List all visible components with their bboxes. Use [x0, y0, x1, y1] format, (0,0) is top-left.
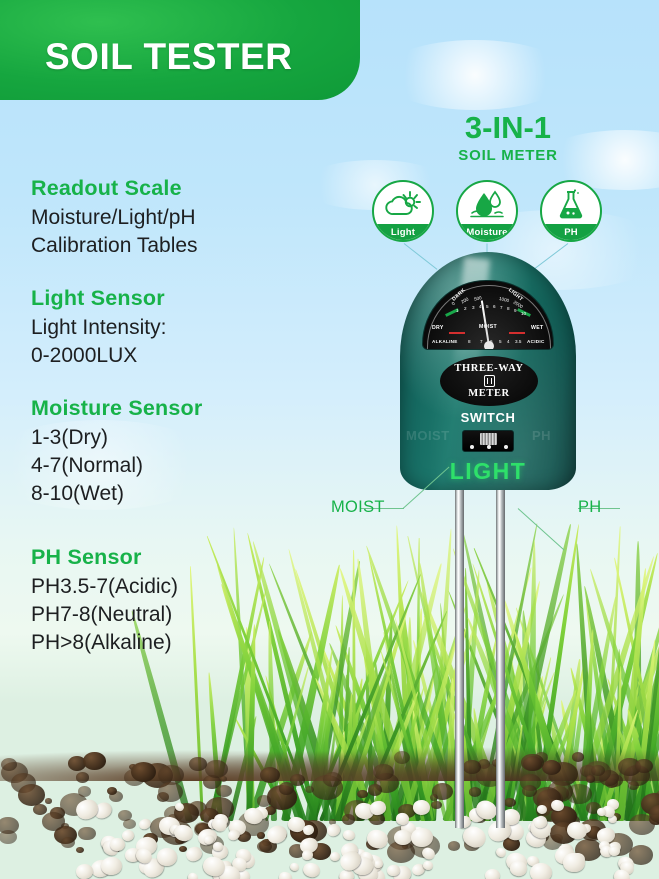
fertilizer-pellet — [325, 822, 343, 839]
switch-position-dot — [487, 445, 491, 449]
dial-needle-hub — [484, 341, 494, 350]
fertilizer-pellet — [302, 861, 322, 879]
soil-clod — [628, 781, 639, 790]
feature-label: Light — [374, 224, 432, 240]
sun-cloud-icon — [374, 185, 432, 225]
spec-block-ph-sensor: PH Sensor PH3.5-7(Acidic) PH7-8(Neutral)… — [31, 545, 331, 657]
feature-icon-row: Light Moisture — [372, 180, 602, 242]
soil-clod — [586, 775, 595, 782]
dial-label-acidic: ACIDIC — [527, 339, 545, 344]
soil-clod — [431, 801, 442, 810]
dial-label-alkaline: ALKALINE — [432, 339, 458, 344]
spec-block-readout-scale: Readout Scale Moisture/Light/pH Calibrat… — [31, 176, 331, 260]
feature-circle: Light — [372, 180, 434, 242]
cloud-decoration — [380, 40, 570, 110]
soil-clod — [463, 760, 480, 774]
soil-clod — [220, 776, 228, 782]
dial-number: 5 — [499, 339, 502, 344]
soil-clod — [257, 832, 265, 839]
dial-number: 8 — [468, 339, 471, 344]
dial-number: 7 — [500, 305, 503, 310]
feature-label: Moisture — [458, 224, 516, 240]
fertilizer-pellet — [343, 829, 356, 841]
spec-line: Light Intensity: — [31, 314, 331, 342]
dial-number: 3 — [472, 305, 475, 310]
spec-line: 1-3(Dry) — [31, 424, 331, 452]
probe-moisture — [455, 488, 464, 828]
soil-clod — [448, 841, 460, 851]
product-title: 3-IN-1 — [398, 112, 618, 143]
dial-number: 9 — [514, 308, 517, 313]
mode-switch[interactable] — [462, 430, 514, 452]
spec-line: PH3.5-7(Acidic) — [31, 573, 331, 601]
soil-clod — [305, 786, 314, 793]
product-subtitle: SOIL METER — [398, 147, 618, 164]
product-title-group: 3-IN-1 SOIL METER — [398, 112, 618, 164]
feature-circle: PH — [540, 180, 602, 242]
selected-mode-label: LIGHT — [400, 458, 576, 485]
spec-line: PH>8(Alkaline) — [31, 629, 331, 657]
dial-number: 2 — [464, 306, 467, 311]
soil-clod — [572, 752, 584, 761]
soil-clod — [368, 784, 383, 796]
feature-light: Light — [372, 180, 434, 242]
fertilizer-pellet — [485, 869, 501, 879]
fertilizer-pellet — [289, 862, 300, 873]
dial-number: 7 — [480, 339, 483, 344]
badge-line-1: THREE-WAY — [454, 363, 523, 374]
molded-label-moist: MOIST — [406, 428, 450, 443]
dial-band-red — [509, 332, 525, 334]
fertilizer-pellet — [109, 837, 125, 851]
soil-clod — [260, 767, 280, 783]
soil-clod — [357, 790, 367, 798]
dial-number: 1 — [456, 308, 459, 313]
soil-clod — [78, 827, 95, 841]
feature-moisture: Moisture — [456, 180, 518, 242]
fertilizer-pellet — [212, 841, 223, 851]
soil-clod — [216, 785, 231, 797]
soil-clod — [257, 795, 271, 806]
spec-heading: Light Sensor — [31, 286, 331, 311]
spec-line: Calibration Tables — [31, 232, 331, 260]
brand-badge: THREE-WAY METER — [440, 356, 538, 406]
spec-block-moisture-sensor: Moisture Sensor 1-3(Dry) 4-7(Normal) 8-1… — [31, 396, 331, 508]
soil-clod — [469, 787, 481, 796]
soil-clod — [158, 782, 183, 802]
feature-label: PH — [542, 224, 600, 240]
soil-clod — [504, 798, 516, 807]
soil-clod — [76, 847, 83, 853]
fertilizer-pellet — [156, 848, 177, 866]
flask-icon — [542, 185, 600, 225]
soil-clod — [61, 837, 75, 848]
soil-clod — [635, 759, 653, 773]
soil-clod — [522, 785, 537, 797]
header-banner: SOIL TESTER — [0, 0, 360, 100]
soil-clod — [0, 817, 19, 834]
soil-clod — [118, 810, 132, 821]
spec-heading: Moisture Sensor — [31, 396, 331, 421]
soil-clod — [78, 786, 91, 797]
probe-ph — [496, 488, 505, 828]
dial-number: 8 — [507, 306, 510, 311]
dial-label-dry: DRY — [432, 325, 444, 331]
dial-number: 5 — [486, 304, 489, 309]
switch-caption: SWITCH — [400, 410, 576, 425]
molded-label-ph: PH — [532, 428, 551, 443]
soil-meter-device: MOIST PH DARK LIGHT 0 200 500 1000 2000 … — [400, 252, 576, 492]
fertilizer-pellet — [329, 852, 340, 862]
dial-band-red — [449, 332, 465, 334]
soil-clod — [373, 764, 394, 781]
dial-label-wet: WET — [531, 325, 543, 331]
fertilizer-pellet — [563, 853, 585, 872]
callout-ph: PH — [578, 498, 602, 517]
dial-number: 6 — [493, 304, 496, 309]
callout-moist: MOIST — [331, 498, 385, 517]
fertilizer-pellet — [101, 856, 123, 876]
spec-line: Moisture/Light/pH — [31, 204, 331, 232]
switch-position-dot — [470, 445, 474, 449]
fertilizer-pellet — [278, 871, 293, 879]
badge-line-2: METER — [468, 388, 510, 399]
dial-number: 3.5 — [515, 339, 521, 344]
soil-clod — [76, 772, 89, 782]
soil-clod — [323, 772, 342, 787]
switch-knob[interactable] — [480, 433, 497, 445]
soil-clod — [83, 752, 106, 770]
page-title: SOIL TESTER — [0, 36, 292, 100]
soil-clod — [189, 757, 206, 771]
spec-heading: Readout Scale — [31, 176, 331, 201]
fertilizer-pellet — [187, 871, 200, 879]
spec-block-light-sensor: Light Sensor Light Intensity: 0-2000LUX — [31, 286, 331, 370]
dial-number: 10 — [521, 311, 526, 316]
soil-clod — [131, 762, 156, 782]
feature-circle: Moisture — [456, 180, 518, 242]
fertilizer-pellet — [530, 863, 552, 879]
spec-line: 0-2000LUX — [31, 342, 331, 370]
feature-ph: PH — [540, 180, 602, 242]
fertilizer-pellet — [422, 859, 434, 870]
soil-layer — [0, 759, 659, 879]
spec-list: Readout Scale Moisture/Light/pH Calibrat… — [31, 176, 331, 683]
spec-line: 4-7(Normal) — [31, 452, 331, 480]
soil-clod — [290, 774, 305, 786]
fertilizer-pellet — [386, 864, 400, 876]
water-drop-icon — [458, 185, 516, 225]
fertilizer-pellet — [75, 863, 94, 879]
fertilizer-pellet — [369, 799, 387, 816]
soil-clod — [521, 754, 543, 772]
spec-line: PH7-8(Neutral) — [31, 601, 331, 629]
brand-logo-icon — [484, 375, 495, 387]
dial-label-moist: MOIST — [479, 324, 497, 330]
soil-clod — [18, 784, 45, 806]
infographic-canvas: SOIL TESTER Readout Scale Moisture/Light… — [0, 0, 659, 879]
spec-line: 8-10(Wet) — [31, 480, 331, 508]
soil-clod — [42, 812, 65, 831]
spec-heading: PH Sensor — [31, 545, 331, 570]
switch-position-dot — [504, 445, 508, 449]
dial-number: 4 — [507, 339, 510, 344]
soil-clod — [45, 798, 52, 803]
